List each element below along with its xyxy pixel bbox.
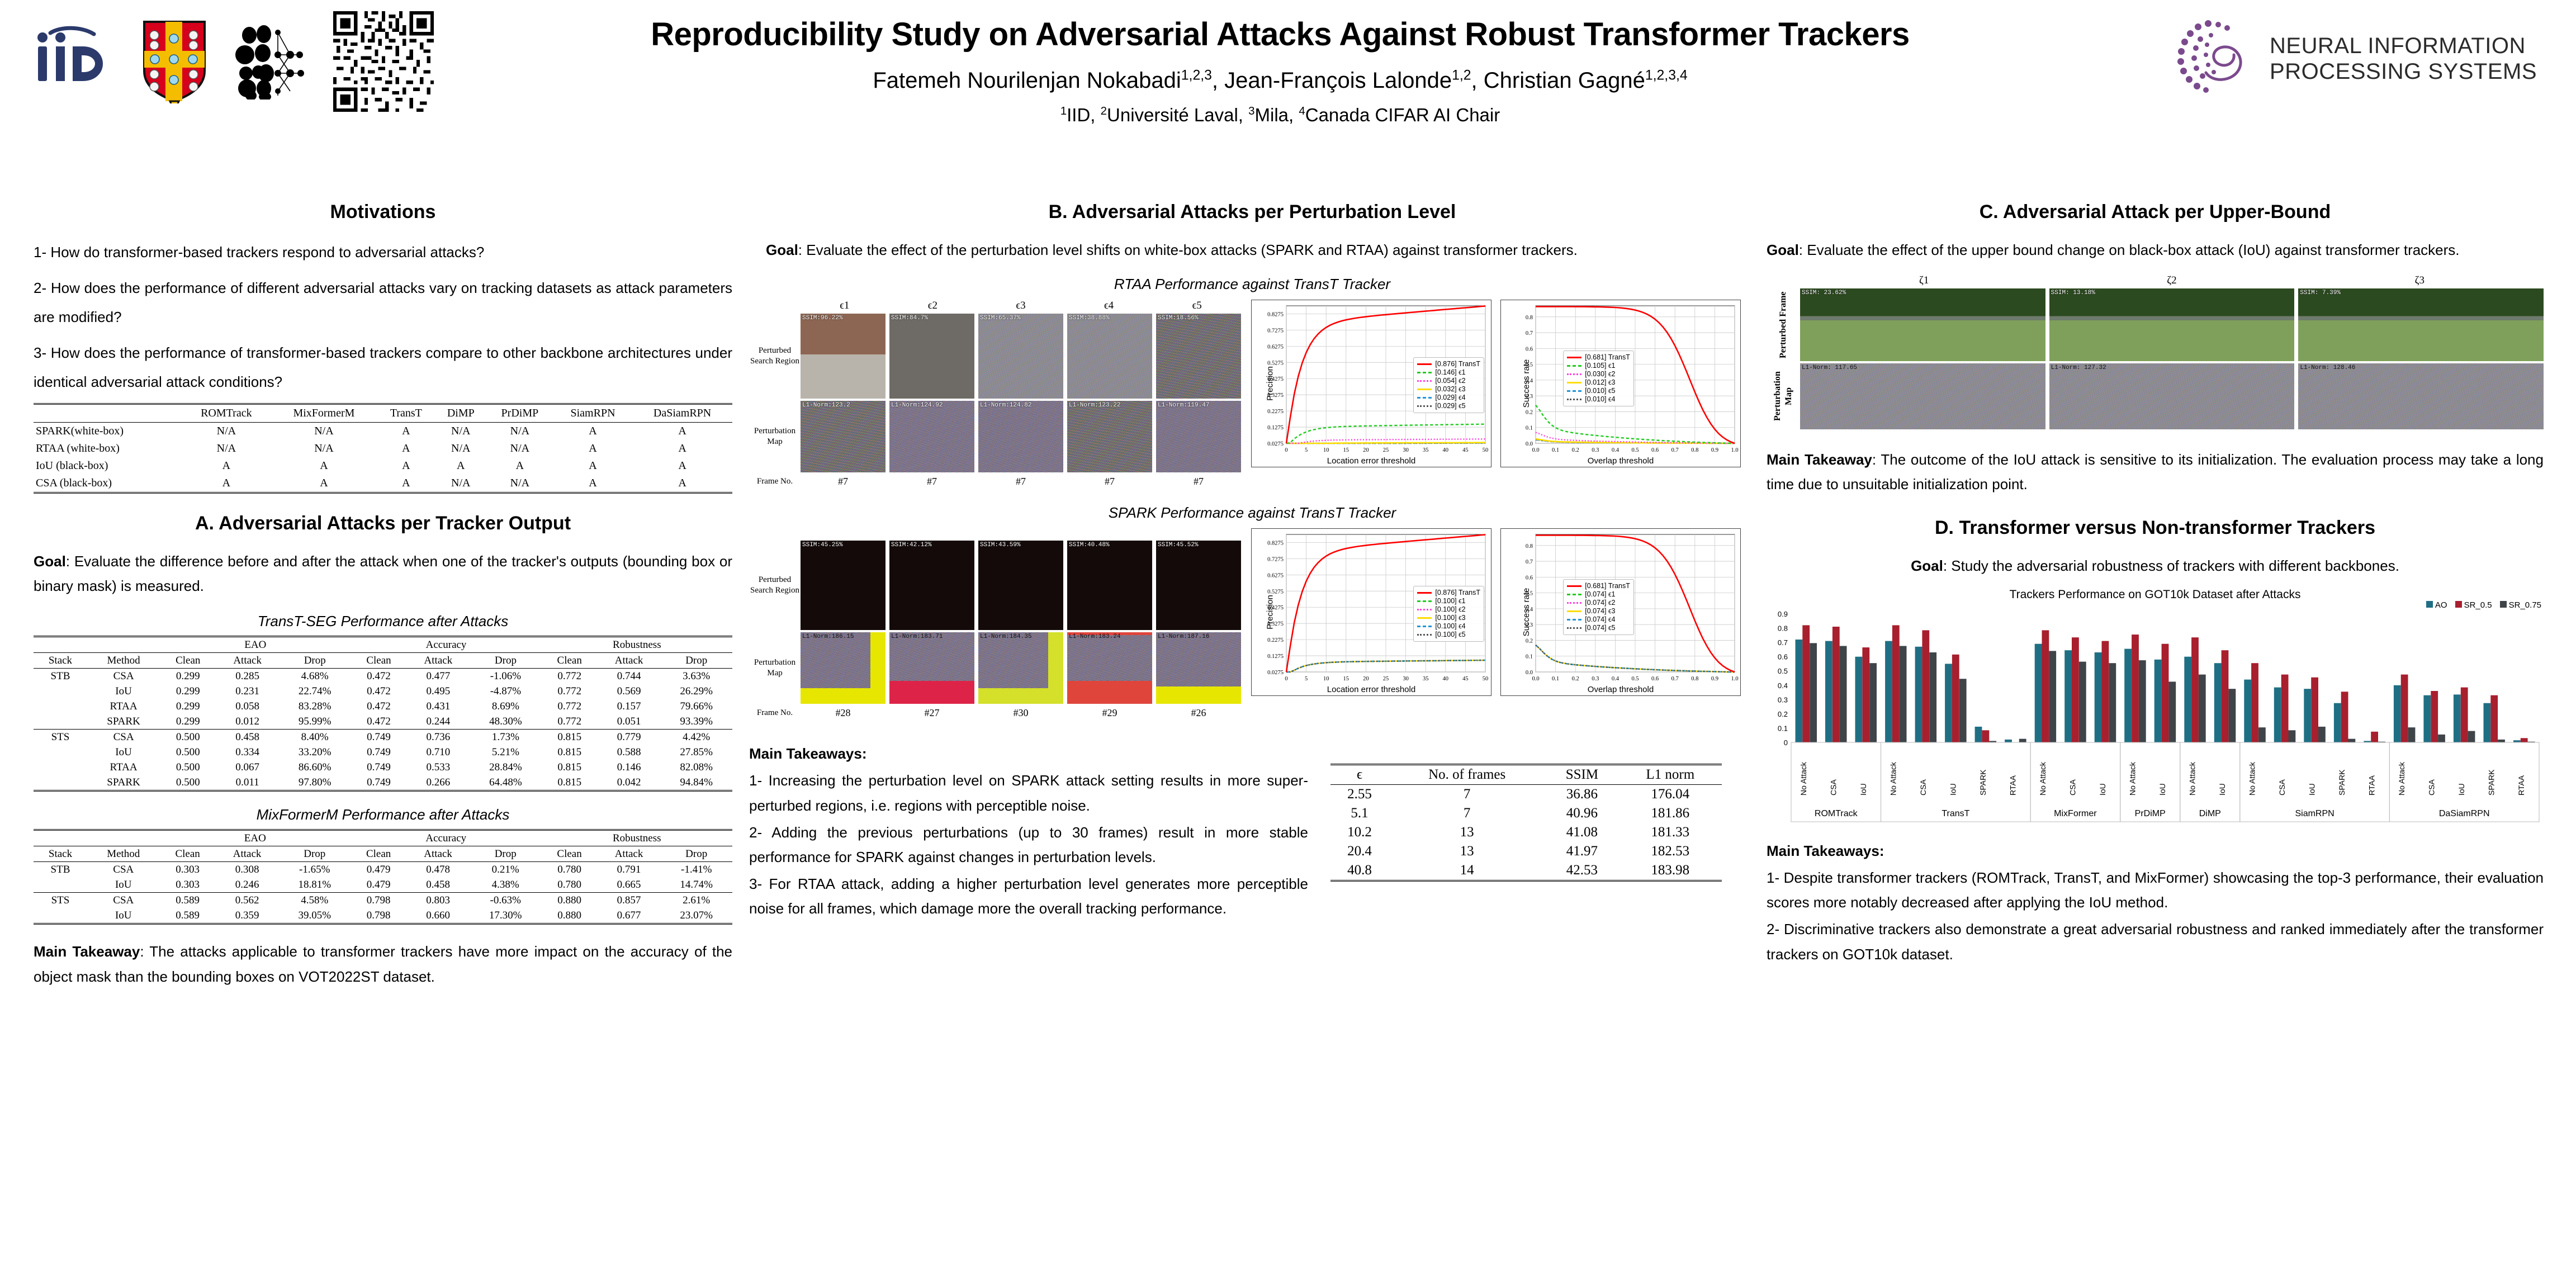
perturbed-search-region-thumb: SSIM:38.88% xyxy=(1067,314,1152,399)
cell: 86.60% xyxy=(279,760,351,775)
bar-group-label: MixFormer xyxy=(2054,809,2097,818)
perturbed-search-region-thumb: SSIM:40.48% xyxy=(1067,541,1152,630)
cell: -1.41% xyxy=(660,862,732,878)
cell: 0.359 xyxy=(216,908,279,924)
cell: 0.146 xyxy=(598,760,661,775)
legend-item: [0.100] ϵ2 xyxy=(1417,605,1480,614)
cell: A xyxy=(632,475,732,493)
cell: 0.472 xyxy=(351,669,406,684)
bar-category-label: IoU xyxy=(2158,783,2167,795)
rtaa-success-plot: 0.00.10.20.30.40.50.60.70.80.00.10.20.30… xyxy=(1500,300,1741,467)
cell: A xyxy=(486,457,553,475)
section-a-goal: Goal: Evaluate the difference before and… xyxy=(34,549,732,598)
perturbation-map-thumb: L1-Norm:186.15 xyxy=(801,632,885,704)
bar xyxy=(2498,740,2505,742)
cell: 0.051 xyxy=(598,714,661,730)
l1norm-label: L1-Norm: 127.32 xyxy=(2051,364,2106,371)
perturbation-map-thumb: L1-Norm:183.24 xyxy=(1067,632,1152,704)
cell: 0.779 xyxy=(598,730,661,745)
col-header: Drop xyxy=(660,846,732,862)
frame-no: #29 xyxy=(1067,707,1152,719)
cell: 0.472 xyxy=(351,699,406,714)
legend-label: [0.074] ϵ2 xyxy=(1585,599,1615,607)
rtaa-image-grid: ϵ1 ϵ2 ϵ3 ϵ4 ϵ5 PerturbedSearch Region SS… xyxy=(749,300,1241,487)
cell: 0.479 xyxy=(351,877,406,893)
cell xyxy=(34,908,87,924)
goal-label: Goal xyxy=(1767,241,1799,258)
section-b-goal: Goal: Evaluate the effect of the perturb… xyxy=(749,238,1755,262)
legend-item: AO xyxy=(2426,600,2447,610)
ssim-label: SSIM:43.59% xyxy=(980,542,1021,548)
cell: SPARK xyxy=(87,714,160,730)
svg-text:0.6: 0.6 xyxy=(1526,347,1533,353)
col-header: Attack xyxy=(216,846,279,862)
legend-label: [0.876] TransT xyxy=(1435,360,1480,368)
legend-item: [0.029] ϵ4 xyxy=(1417,394,1480,402)
cell: A xyxy=(182,457,271,475)
bar xyxy=(2334,703,2341,742)
group-header: EAO xyxy=(160,637,351,653)
svg-text:0.8: 0.8 xyxy=(1691,676,1698,682)
section-d-heading: D. Transformer versus Non-transformer Tr… xyxy=(1767,517,2544,539)
perturbation-map-thumb: L1-Norm:184.35 xyxy=(978,632,1063,704)
bar-category-label: CSA xyxy=(1919,779,1928,795)
bar xyxy=(2132,634,2139,742)
legend-item: [0.105] ϵ1 xyxy=(1567,362,1630,370)
col-header: Drop xyxy=(470,653,541,669)
bar-category-label: No Attack xyxy=(1799,761,1808,795)
cell xyxy=(34,714,87,730)
perturbation-map-thumb: L1-Norm:124.92 xyxy=(889,401,974,472)
svg-text:0: 0 xyxy=(1285,447,1287,453)
legend-swatch xyxy=(2455,601,2462,608)
legend-swatch xyxy=(1417,617,1432,619)
cell: 0.772 xyxy=(542,699,598,714)
cell: 79.66% xyxy=(660,699,732,714)
cell: 13 xyxy=(1389,842,1545,861)
goal-label: Goal xyxy=(766,241,798,258)
row-label-perturbed-frame: Perturbed Frame xyxy=(1767,288,1800,361)
bar xyxy=(2005,740,2012,742)
svg-text:0.0: 0.0 xyxy=(1532,676,1539,682)
rtaa-figure-block: RTAA Performance against TransT Tracker … xyxy=(749,276,1755,487)
cell: IoU xyxy=(87,877,160,893)
bar-group-label: SiamRPN xyxy=(2295,809,2334,818)
bar xyxy=(2341,692,2348,742)
ssim-label: SSIM: 23.62% xyxy=(1802,290,1846,296)
legend-swatch xyxy=(1417,609,1432,610)
svg-text:5: 5 xyxy=(1305,447,1308,453)
epsilon-summary-table-wrap: ϵNo. of framesSSIML1 norm2.55736.86176.0… xyxy=(1330,741,1722,921)
col-header: Drop xyxy=(470,846,542,862)
legend-swatch xyxy=(1567,627,1581,629)
ssim-label: SSIM:38.88% xyxy=(1069,315,1110,321)
perturbation-map-thumb: L1-Norm: 117.65 xyxy=(1800,363,2045,429)
legend-label: [0.074] ϵ3 xyxy=(1585,607,1615,615)
cell: SPARK xyxy=(87,775,160,791)
cell: N/A xyxy=(271,440,377,457)
cell: 14.74% xyxy=(660,877,732,893)
svg-text:50: 50 xyxy=(1483,676,1489,682)
perturbed-search-region-thumb: SSIM:42.12% xyxy=(889,541,974,630)
mila-logo xyxy=(231,24,310,100)
bar xyxy=(1892,625,1900,742)
legend-label: [0.100] ϵ5 xyxy=(1435,631,1465,638)
col-header: Stack xyxy=(34,653,87,669)
y-axis-label: Precision xyxy=(1265,366,1275,401)
bar xyxy=(2199,674,2206,742)
x-axis-label: Location error threshold xyxy=(1252,456,1491,466)
bar-group-label: DaSiamRPN xyxy=(2439,809,2490,818)
svg-text:30: 30 xyxy=(1403,676,1409,682)
goal-label: Goal xyxy=(34,553,66,570)
bar xyxy=(2079,661,2086,742)
cell: 0.589 xyxy=(160,908,216,924)
cell: 183.98 xyxy=(1619,861,1722,881)
legend-item: [0.681] TransT xyxy=(1567,353,1630,362)
l1norm-label: L1-Norm: 128.46 xyxy=(2300,364,2355,371)
bar xyxy=(2154,660,2162,742)
perturbation-map-thumb: L1-Norm: 128.46 xyxy=(2298,363,2544,429)
x-axis-label: Location error threshold xyxy=(1252,685,1491,694)
legend-swatch xyxy=(1567,390,1581,392)
perturbation-map-thumb: L1-Norm:123.2 xyxy=(801,401,885,472)
cell: N/A xyxy=(182,440,271,457)
col-header: DaSiamRPN xyxy=(632,404,732,423)
svg-text:0.1: 0.1 xyxy=(1778,724,1788,732)
bar xyxy=(1855,656,1863,742)
cell: 41.97 xyxy=(1545,842,1618,861)
cell: 28.84% xyxy=(470,760,541,775)
bar-category-label: IoU xyxy=(2098,783,2107,795)
table-row: 40.81442.53183.98 xyxy=(1330,861,1722,881)
legend-item: [0.100] ϵ1 xyxy=(1417,597,1480,605)
cell: 4.42% xyxy=(660,730,732,745)
ssim-label: SSIM:18.56% xyxy=(1158,315,1199,321)
col-header: Clean xyxy=(160,846,216,862)
bar-category-label: IoU xyxy=(2308,783,2317,795)
section-a-takeaway: Main Takeaway: The attacks applicable to… xyxy=(34,939,732,988)
legend-swatch xyxy=(1567,610,1581,612)
section-d-takeaway-1: 1- Despite transformer trackers (ROMTrac… xyxy=(1767,865,2544,915)
goal-text: : Evaluate the effect of the perturbatio… xyxy=(798,241,1578,258)
title-block: Reproducibility Study on Adversarial Att… xyxy=(615,17,1945,126)
perturbed-search-region-thumb: SSIM:96.22% xyxy=(801,314,885,399)
legend-item: SR_0.5 xyxy=(2455,600,2492,610)
bar-group-label: ROMTrack xyxy=(1815,809,1858,818)
universite-laval-coat-of-arms xyxy=(141,20,208,103)
svg-text:0.8275: 0.8275 xyxy=(1267,312,1284,318)
svg-text:10: 10 xyxy=(1323,447,1329,453)
zeta-label: ζ3 xyxy=(2296,274,2544,287)
table-row: STSCSA0.5000.4588.40%0.7490.7361.73%0.81… xyxy=(34,730,732,745)
perturbation-map-thumb: L1-Norm:183.71 xyxy=(889,632,974,704)
bar xyxy=(2244,679,2251,742)
cell: 0.677 xyxy=(598,908,661,924)
section-a-heading: A. Adversarial Attacks per Tracker Outpu… xyxy=(34,513,732,534)
bar xyxy=(2461,687,2468,742)
svg-text:0.2275: 0.2275 xyxy=(1267,409,1284,415)
perturbed-search-region-thumb: SSIM:84.7% xyxy=(889,314,974,399)
plot-legend: [0.876] TransT[0.100] ϵ1[0.100] ϵ2[0.100… xyxy=(1413,586,1484,642)
cell: -4.87% xyxy=(470,684,541,699)
spark-figure-block: SPARK Performance against TransT Tracker… xyxy=(749,504,1755,719)
svg-text:20: 20 xyxy=(1363,447,1369,453)
cell: A xyxy=(377,423,435,441)
table-row: 2.55736.86176.04 xyxy=(1330,785,1722,804)
bar-category-label: No Attack xyxy=(2248,761,2257,795)
plot-legend: [0.681] TransT[0.105] ϵ1[0.030] ϵ2[0.012… xyxy=(1563,351,1634,406)
legend-swatch xyxy=(1567,357,1581,358)
cell: A xyxy=(553,423,632,441)
got10k-bar-chart: Trackers Performance on GOT10k Dataset a… xyxy=(1767,588,2544,828)
iou-upper-bound-figure: ζ1 ζ2 ζ3 Perturbed Frame SSIM: 23.62% SS… xyxy=(1767,274,2544,429)
legend-swatch xyxy=(2500,601,2507,608)
bar xyxy=(1840,646,1847,742)
cell: 0.798 xyxy=(351,908,406,924)
cell: 0.246 xyxy=(216,877,279,893)
y-axis-label: Success rate xyxy=(1522,588,1531,637)
frame-no: #30 xyxy=(978,707,1063,719)
cell xyxy=(34,877,87,893)
bar-category-label: CSA xyxy=(2427,779,2436,795)
legend-swatch xyxy=(1567,585,1581,587)
legend-label: [0.029] ϵ4 xyxy=(1435,394,1465,401)
bar xyxy=(1929,652,1936,742)
takeaway-text: : The outcome of the IoU attack is sensi… xyxy=(1767,451,2544,493)
cell: A xyxy=(377,440,435,457)
svg-text:0.8: 0.8 xyxy=(1691,447,1698,453)
perturbed-search-region-thumb: SSIM:45.25% xyxy=(801,541,885,630)
qr-code[interactable] xyxy=(333,11,434,112)
legend-swatch xyxy=(1567,602,1581,604)
l1norm-label: L1-Norm:123.2 xyxy=(802,402,850,409)
table-row: IoU0.3030.24618.81%0.4790.4584.38%0.7800… xyxy=(34,877,732,893)
plot-legend: [0.681] TransT[0.074] ϵ1[0.074] ϵ2[0.074… xyxy=(1563,579,1634,635)
svg-text:0.5: 0.5 xyxy=(1778,667,1788,675)
l1norm-label: L1-Norm:124.92 xyxy=(891,402,943,409)
section-b-takeaway-2: 2- Adding the previous perturbations (up… xyxy=(749,820,1308,869)
legend-swatch xyxy=(1417,405,1432,407)
logo-strip xyxy=(34,11,434,112)
table-row: IoU0.5000.33433.20%0.7490.7105.21%0.8150… xyxy=(34,745,732,760)
cell: 176.04 xyxy=(1619,785,1722,804)
cell: 82.08% xyxy=(660,760,732,775)
mixformerm-table-caption: MixFormerM Performance after Attacks xyxy=(34,806,732,823)
frame-no: #7 xyxy=(978,476,1063,487)
row-label-perturbed-search-region: PerturbedSearch Region xyxy=(749,541,801,630)
zeta-label: ζ2 xyxy=(2048,274,2295,287)
perturbed-frame-thumb: SSIM: 7.39% xyxy=(2298,288,2544,361)
svg-text:0: 0 xyxy=(1285,676,1287,682)
svg-text:0.2: 0.2 xyxy=(1526,410,1533,416)
bar xyxy=(1959,679,1967,742)
eps-label: ϵ5 xyxy=(1153,300,1241,312)
poster-header: Reproducibility Study on Adversarial Att… xyxy=(0,0,2576,184)
column-middle: B. Adversarial Attacks per Perturbation … xyxy=(749,201,1755,921)
section-b-takeaway-1: 1- Increasing the perturbation level on … xyxy=(749,768,1308,817)
section-b-takeaways: Main Takeaways: 1- Increasing the pertur… xyxy=(749,741,1308,921)
cell: RTAA xyxy=(87,760,160,775)
svg-text:0.0275: 0.0275 xyxy=(1267,441,1284,447)
cell: 181.33 xyxy=(1619,823,1722,842)
svg-text:0.9: 0.9 xyxy=(1778,610,1788,618)
l1norm-label: L1-Norm:187.16 xyxy=(1158,633,1209,640)
cell: 0.791 xyxy=(598,862,661,878)
l1norm-label: L1-Norm: 117.65 xyxy=(1802,364,1857,371)
cell: 0.500 xyxy=(160,775,216,791)
eps-label: ϵ2 xyxy=(889,300,977,312)
neurips-logo: NEURAL INFORMATION PROCESSING SYSTEMS xyxy=(2173,17,2537,101)
cell: A xyxy=(632,423,732,441)
cell: 33.20% xyxy=(279,745,351,760)
legend-swatch xyxy=(1417,389,1432,390)
cell: 0.749 xyxy=(351,775,406,791)
cell: 93.39% xyxy=(660,714,732,730)
transt-seg-performance-table: EAOAccuracyRobustnessStackMethodCleanAtt… xyxy=(34,636,732,792)
bar-category-label: No Attack xyxy=(1888,761,1897,795)
frame-no: #7 xyxy=(1067,476,1152,487)
ssim-label: SSIM:45.25% xyxy=(802,542,843,548)
l1norm-label: L1-Norm:183.24 xyxy=(1069,633,1120,640)
cell: 22.74% xyxy=(279,684,351,699)
bar-category-label: CSA xyxy=(2277,779,2286,795)
cell: N/A xyxy=(435,423,486,441)
bar-category-label: IoU xyxy=(1859,783,1868,795)
table-row: STBCSA0.3030.308-1.65%0.4790.4780.21%0.7… xyxy=(34,862,732,878)
bar-chart-canvas: 00.10.20.30.40.50.60.70.80.9No AttackCSA… xyxy=(1767,603,2544,829)
svg-text:50: 50 xyxy=(1483,447,1489,453)
neurips-mark xyxy=(2173,17,2257,101)
iid-logo xyxy=(34,25,117,98)
cell: 2.55 xyxy=(1330,785,1389,804)
svg-text:0.1275: 0.1275 xyxy=(1267,425,1284,431)
col-header: Stack xyxy=(34,846,87,862)
cell: 0.299 xyxy=(160,699,216,714)
table-row: RTAA (white-box) N/A N/A A N/A N/A A A xyxy=(34,440,732,457)
bar xyxy=(2102,641,2109,742)
legend-swatch xyxy=(1567,365,1581,367)
bar-category-label: SPARK xyxy=(1978,769,1987,795)
motivations-heading: Motivations xyxy=(34,201,732,223)
cell: 39.05% xyxy=(278,908,351,924)
rtaa-figure-caption: RTAA Performance against TransT Tracker xyxy=(749,276,1755,293)
legend-label: [0.100] ϵ1 xyxy=(1435,597,1465,605)
legend-item: [0.074] ϵ4 xyxy=(1567,615,1630,624)
cell: 0.780 xyxy=(541,862,597,878)
svg-text:0.6: 0.6 xyxy=(1526,575,1533,581)
rtaa-plots: 0.02750.12750.22750.32750.42750.52750.62… xyxy=(1251,300,1755,467)
cell: 0.334 xyxy=(216,745,279,760)
svg-text:0.7275: 0.7275 xyxy=(1267,328,1284,334)
svg-text:0.3: 0.3 xyxy=(1778,695,1788,704)
svg-text:0.0275: 0.0275 xyxy=(1267,670,1284,676)
bar xyxy=(2251,663,2258,742)
bar xyxy=(2513,740,2521,742)
legend-item: [0.012] ϵ3 xyxy=(1567,378,1630,387)
table-row: RTAA0.5000.06786.60%0.7490.53328.84%0.81… xyxy=(34,760,732,775)
x-axis-label: Overlap threshold xyxy=(1501,685,1740,694)
svg-text:0.2: 0.2 xyxy=(1572,676,1579,682)
svg-text:20: 20 xyxy=(1363,676,1369,682)
svg-text:0.7: 0.7 xyxy=(1526,330,1533,337)
svg-text:35: 35 xyxy=(1423,447,1429,453)
bar-category-label: CSA xyxy=(1829,779,1838,795)
col-header: DiMP xyxy=(435,404,486,423)
cell: A xyxy=(553,475,632,493)
table-row: IoU (black-box) A A A A A A A xyxy=(34,457,732,475)
cell: 0.665 xyxy=(598,877,661,893)
table-row: 20.41341.97182.53 xyxy=(1330,842,1722,861)
svg-text:0.1275: 0.1275 xyxy=(1267,654,1284,660)
cell: 0.458 xyxy=(216,730,279,745)
zeta-label: ζ1 xyxy=(1800,274,2048,287)
row-label: RTAA (white-box) xyxy=(34,440,182,457)
cell: 0.736 xyxy=(407,730,470,745)
svg-text:0.4: 0.4 xyxy=(1612,676,1620,682)
bar-group-label: PrDiMP xyxy=(2135,809,2166,818)
legend-swatch xyxy=(2426,601,2433,608)
svg-text:35: 35 xyxy=(1423,676,1429,682)
cell: 40.8 xyxy=(1330,861,1389,881)
col-header: PrDiMP xyxy=(486,404,553,423)
bar xyxy=(1900,646,1907,742)
cell xyxy=(34,760,87,775)
legend-item: [0.100] ϵ3 xyxy=(1417,614,1480,622)
cell: 0.533 xyxy=(407,760,470,775)
bar xyxy=(2072,637,2079,742)
cell: N/A xyxy=(435,440,486,457)
cell: 0.880 xyxy=(541,893,597,908)
cell: N/A xyxy=(486,475,553,493)
perturbation-map-thumb: L1-Norm:119.47 xyxy=(1156,401,1241,472)
cell: N/A xyxy=(435,475,486,493)
cell: 0.815 xyxy=(542,745,598,760)
col-header: Drop xyxy=(278,846,351,862)
cell: N/A xyxy=(182,423,271,441)
mixformerm-performance-table: EAOAccuracyRobustnessStackMethodCleanAtt… xyxy=(34,829,732,925)
svg-text:0.5: 0.5 xyxy=(1631,676,1639,682)
cell: 7 xyxy=(1389,785,1545,804)
bar-chart-title: Trackers Performance on GOT10k Dataset a… xyxy=(1767,588,2544,602)
cell: 17.30% xyxy=(470,908,542,924)
col-header: Method xyxy=(87,846,160,862)
section-d-goal: Goal: Study the adversarial robustness o… xyxy=(1767,553,2544,578)
bar-category-label: SPARK xyxy=(2337,769,2346,795)
cell: IoU xyxy=(87,745,160,760)
cell: 0.266 xyxy=(407,775,470,791)
cell: 0.803 xyxy=(406,893,470,908)
cell: 0.500 xyxy=(160,745,216,760)
takeaway-label: Main Takeaway xyxy=(1767,451,1872,468)
cell: N/A xyxy=(486,423,553,441)
cell: 97.80% xyxy=(279,775,351,791)
row-label: SPARK(white-box) xyxy=(34,423,182,441)
col-header: Attack xyxy=(598,846,661,862)
legend-label: [0.146] ϵ1 xyxy=(1435,368,1465,376)
cell: -1.06% xyxy=(470,669,541,684)
svg-text:45: 45 xyxy=(1462,676,1469,682)
table-row: STBCSA0.2990.2854.68%0.4720.477-1.06%0.7… xyxy=(34,669,732,684)
legend-label: [0.681] TransT xyxy=(1585,582,1630,590)
cell: 18.81% xyxy=(278,877,351,893)
bar xyxy=(2468,731,2475,742)
bar xyxy=(2168,681,2176,742)
bar-category-label: No Attack xyxy=(2188,761,2197,795)
cell: 0.710 xyxy=(407,745,470,760)
svg-text:0.5: 0.5 xyxy=(1631,447,1639,453)
cell: 94.84% xyxy=(660,775,732,791)
